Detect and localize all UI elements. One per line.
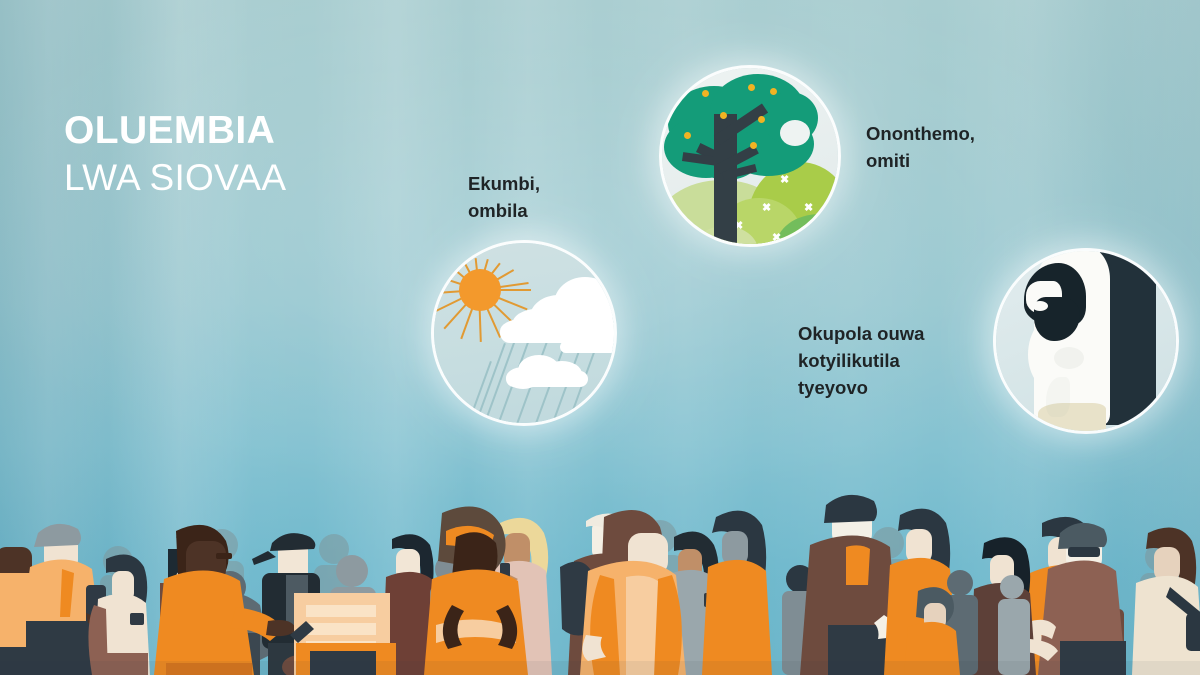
fruit-dot [748,84,755,91]
fruit-dot [702,90,709,97]
tree-bushes-icon: ✖ ✖ ✖ ✖ ✖ ✖ [662,68,838,244]
flower-icon: ✖ [780,176,789,185]
fruit-dot [750,142,757,149]
bubble-tree-label: Ononthemo, omiti [866,120,1056,174]
flower-icon: ✖ [772,234,781,243]
person-shading [1054,347,1084,369]
person-shading [1046,377,1070,417]
crowd-person [800,495,900,675]
flower-icon: ✖ [804,204,813,213]
bubble-weather[interactable] [434,243,614,423]
flower-icon: ✖ [762,204,771,213]
fruit-dot [758,116,765,123]
tree-canopy-notch [780,120,810,146]
title-line-1: OLUEMBIA [64,108,494,154]
crowd-illustration [0,475,1200,675]
page-title: OLUEMBIA LWA SIOVAA [64,108,494,202]
bubble-weather-label: Ekumbi, ombila [468,170,628,224]
fruit-dot [684,132,691,139]
cloud-base [560,341,614,353]
slide-canvas: OLUEMBIA LWA SIOVAA ✖ ✖ ✖ ✖ ✖ ✖ [0,0,1200,675]
sun-rain-icon [434,243,614,423]
fruit-dot [770,88,777,95]
bubble-health[interactable] [996,251,1176,431]
fruit-dot [720,112,727,119]
crowd-person [702,511,772,675]
bubble-health-label: Okupola ouwa kotyilikutila tyeyovo [798,320,998,401]
crowd-person [1132,528,1200,675]
person-raised-arm-icon [996,251,1176,431]
crowd-person [88,555,150,675]
sun-icon [459,269,501,311]
title-line-2: LWA SIOVAA [64,154,494,202]
bubble-tree-bushes[interactable]: ✖ ✖ ✖ ✖ ✖ ✖ [662,68,838,244]
person-chin-highlight [1032,301,1048,311]
cloud-base [506,371,588,387]
